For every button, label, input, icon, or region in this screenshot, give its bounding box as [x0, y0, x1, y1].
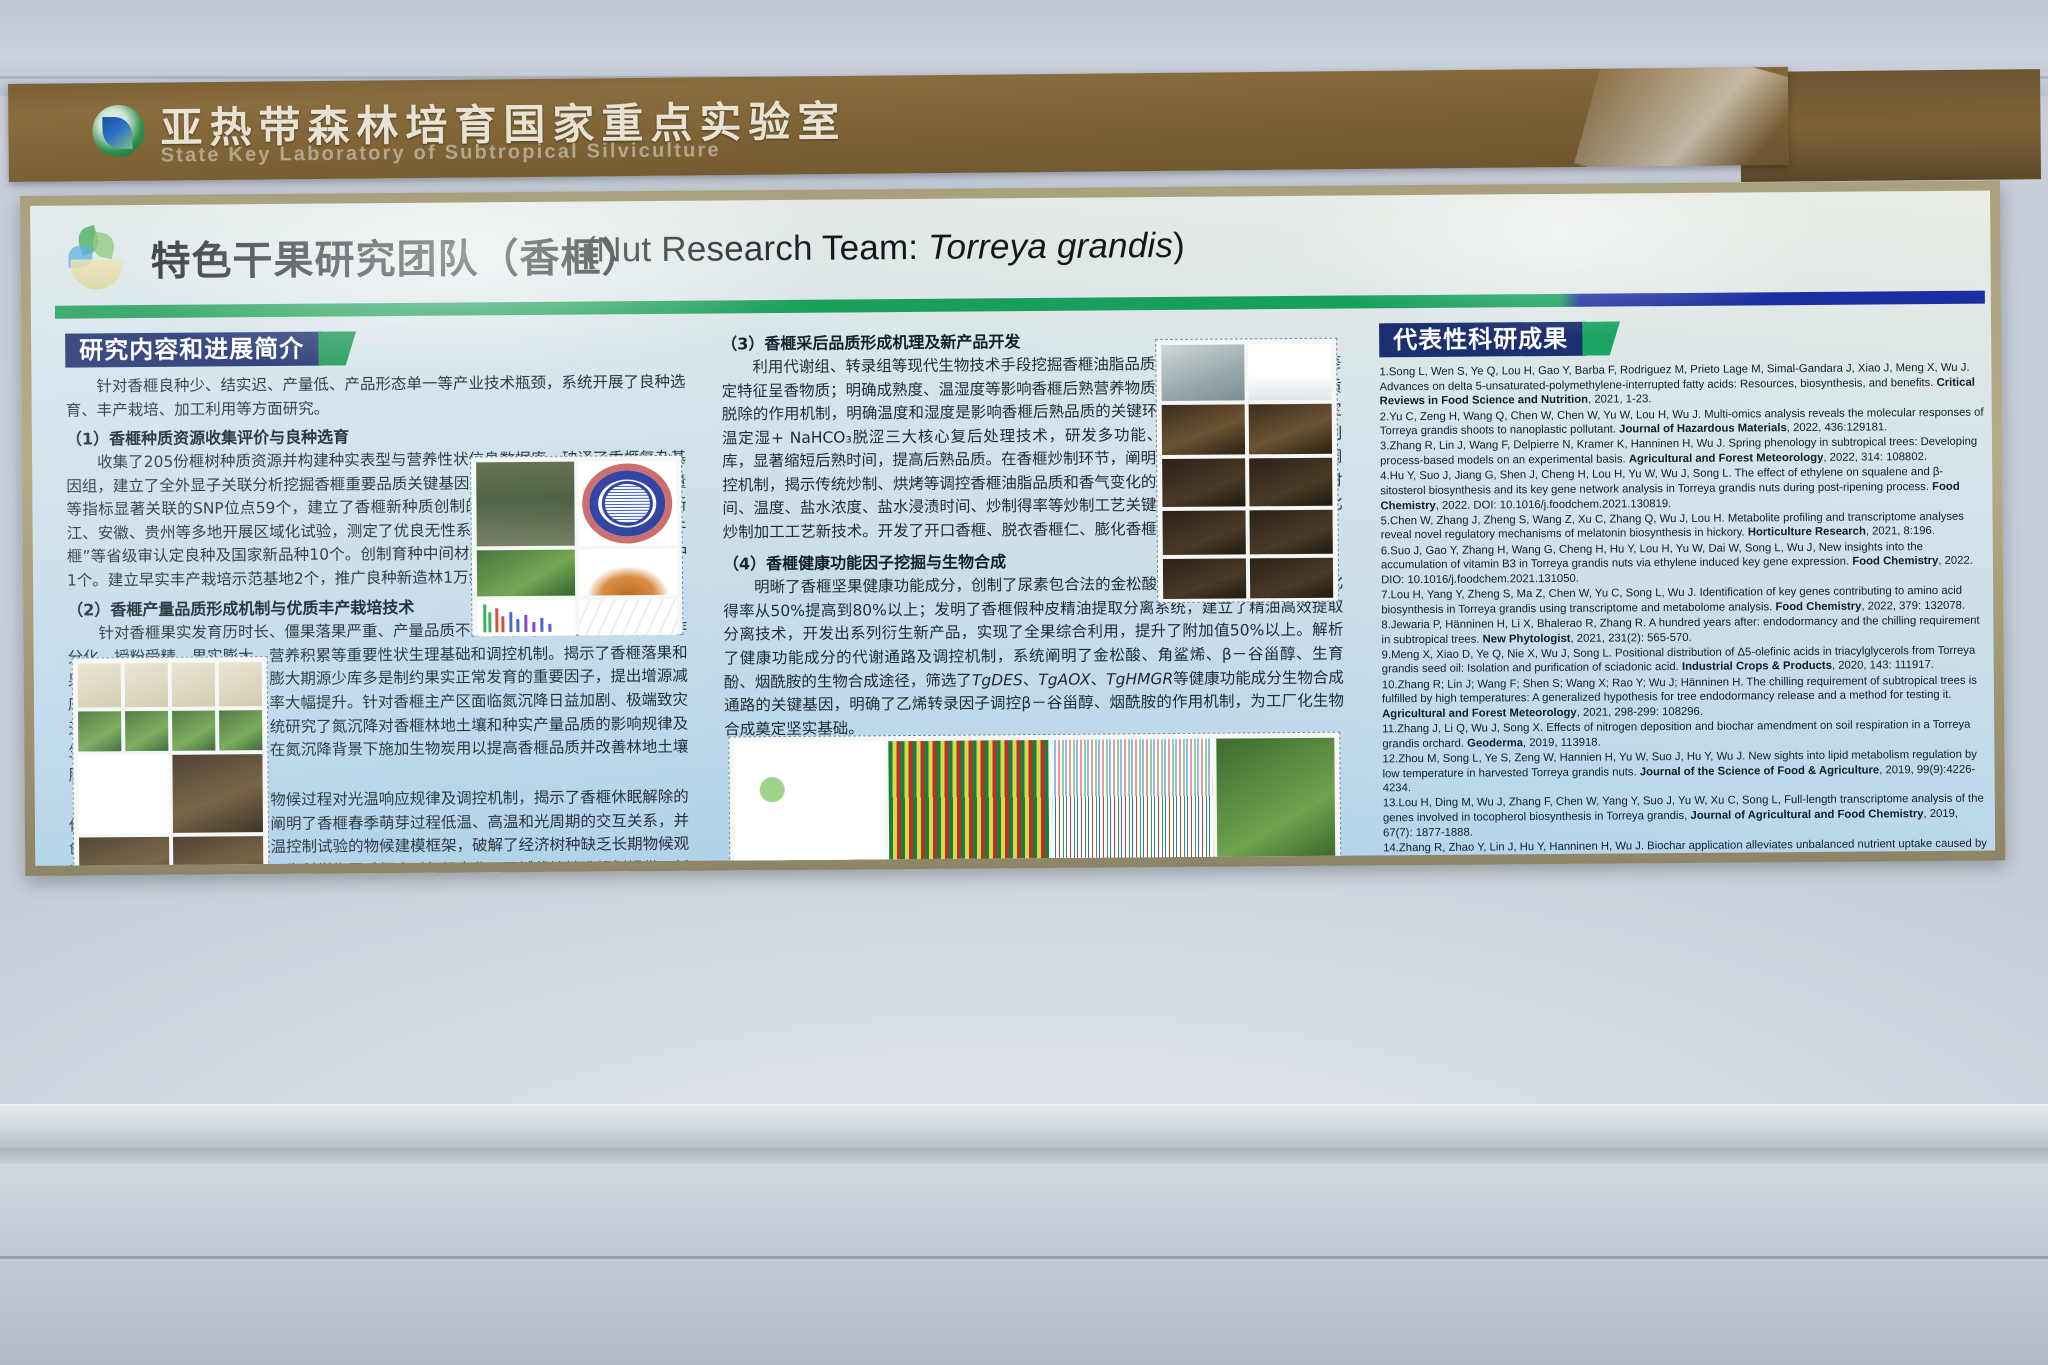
- figure-fruit-d: [219, 710, 262, 750]
- reference-citation: , 2021, 8:196.: [1866, 525, 1935, 538]
- figure-fruit-a: [78, 711, 121, 751]
- reference-journal: Agricultural and Forest Meteorology: [1382, 707, 1577, 721]
- reference-journal: Journal of Agricultural and Food Chemist…: [1690, 808, 1923, 822]
- section-1-label: 香榧种质资源收集评价与良种选育: [109, 428, 349, 449]
- lab-title-en: State Key Laboratory of Subtropical Silv…: [161, 139, 721, 167]
- reference-journal: Food Chemistry: [1775, 600, 1861, 613]
- figure-pathway-diagram: [734, 741, 885, 866]
- reference-item: 1.Song L, Wen S, Ye Q, Lou H, Gao Y, Bar…: [1379, 361, 1985, 410]
- reference-item: 4.Hu Y, Suo J, Jiang G, Shen J, Cheng H,…: [1380, 465, 1986, 514]
- left-column-heading: 研究内容和进展简介: [65, 332, 322, 368]
- gene-tghmgr: TgHMGR: [1106, 670, 1173, 689]
- figure-canopy-photo: [172, 754, 263, 833]
- reference-number: 13.: [1383, 798, 1399, 810]
- figure-tree-schematic: [78, 755, 169, 834]
- reference-item: 10.Zhang R; Lin J; Wang F; Shen S; Wang …: [1382, 673, 1988, 722]
- leaf-globe-logo-icon: [92, 105, 144, 157]
- reference-journal: Industrial Crops & Products: [1682, 660, 1832, 673]
- section-3-number: （3）: [721, 334, 764, 353]
- reference-citation: , 2021, 298-299: 108296.: [1577, 706, 1703, 719]
- reference-citation: , 2021, 231(2): 565-570.: [1570, 631, 1691, 644]
- reference-citation: , 2022, 436:129181.: [1787, 422, 1888, 435]
- reference-text: Hu Y, Suo J, Jiang G, Shen J, Cheng H, L…: [1380, 466, 1943, 497]
- poster-title-species: Torreya grandis: [928, 226, 1173, 267]
- section-4-label: 香榧健康功能因子挖掘与生物合成: [766, 553, 1006, 574]
- poster-title-en-prefix: (Nut Research Team:: [584, 228, 928, 270]
- figure-snp-histogram: [477, 600, 575, 637]
- board-glare: [1574, 67, 1789, 182]
- reference-item: 2.Yu C, Zeng H, Wang Q, Chen W, Chen W, …: [1380, 405, 1986, 439]
- reference-citation: , 2021, 1-23.: [1588, 394, 1652, 406]
- reference-item: 8.Jewaria P, Hänninen H, Li X, Bhalerao …: [1381, 613, 1987, 647]
- figure-product-tray-a: [1163, 510, 1246, 555]
- figure-kernel-sample-b: [1249, 458, 1332, 507]
- figure-germplasm: [470, 455, 683, 637]
- reference-citation: , 2022, 379: 132078.: [1861, 599, 1965, 612]
- reference-journal: Journal of the Science of Food & Agricul…: [1640, 764, 1879, 778]
- figure-kernel-sample-a: [1162, 458, 1245, 507]
- reference-number: 10.: [1382, 679, 1398, 691]
- figure-product-tray-b: [1250, 510, 1333, 555]
- figure-nuts-roasting: [1249, 404, 1332, 455]
- reference-item: 5.Chen W, Zhang J, Zheng S, Wang Z, Xu C…: [1381, 509, 1987, 543]
- section-1-title: （1）香榧种质资源收集评价与良种选育: [66, 421, 686, 450]
- reference-journal: Horticulture Research: [1748, 526, 1866, 539]
- reference-item: 11.Zhang J, Li Q, Wu J, Song X. Effects …: [1382, 718, 1988, 752]
- figure-nuts-drying: [1162, 404, 1245, 455]
- section-3-label: 香榧采后品质形成机理及新产品开发: [764, 332, 1020, 353]
- figure-flower-b: [125, 663, 168, 707]
- poster-title-cn: 特色干果研究团队（香榧）: [150, 225, 642, 287]
- figure-distribution-curve: [579, 549, 677, 596]
- reference-citation: , 2022, 314: 108802.: [1823, 451, 1927, 464]
- section-4-number: （4）: [723, 555, 766, 574]
- reference-number: 11.: [1382, 723, 1397, 735]
- poster-title-en-suffix: ): [1173, 226, 1185, 265]
- poster-frame: 特色干果研究团队（香榧） (Nut Research Team: Torreya…: [20, 180, 2005, 876]
- section-2-number: （2）: [67, 601, 110, 620]
- reference-text: Song L, Wen S, Ye Q, Lou H, Gao Y, Barba…: [1379, 362, 1969, 393]
- reference-journal: Food Chemistry: [1852, 555, 1938, 568]
- figure-postharvest: [1155, 338, 1339, 603]
- left-intro-paragraph: 针对香榧良种少、结实迟、产量低、产品形态单一等产业技术瓶颈，系统开展了良种选育、…: [65, 371, 685, 423]
- poster-container: 特色干果研究团队（香榧） (Nut Research Team: Torreya…: [20, 180, 2005, 876]
- poster-surface: 特色干果研究团队（香榧） (Nut Research Team: Torreya…: [30, 191, 1995, 866]
- figure-circos-plot: [578, 461, 677, 546]
- figure-flower-c: [172, 662, 215, 706]
- reference-journal: Geoderma: [1467, 737, 1523, 749]
- figure-product-tray-c: [1163, 558, 1246, 599]
- section-2-label: 香榧产量品质形成机制与优质丰产栽培技术: [110, 598, 414, 619]
- reference-item: 7.Lou H, Yang Y, Zheng S, Ma Z, Chen W, …: [1381, 584, 1987, 618]
- wall-base-seam: [0, 1256, 2048, 1259]
- reference-number: 14.: [1383, 842, 1399, 854]
- right-column: 代表性科研成果 1.Song L, Wen S, Ye Q, Lou H, Ga…: [1379, 319, 1991, 866]
- figure-fruit-b: [125, 711, 168, 751]
- poster-title-row: 特色干果研究团队（香榧） (Nut Research Team: Torreya…: [64, 209, 1971, 302]
- wall-base-panel: [0, 1164, 2048, 1365]
- reference-number: 12.: [1382, 753, 1398, 765]
- reference-item: 12.Zhou M, Song L, Ye S, Zeng W, Hannien…: [1382, 748, 1988, 797]
- section-1-number: （1）: [66, 429, 109, 448]
- reference-item: 3.Zhang R, Lin J, Wang F, Delpierre N, K…: [1380, 435, 1986, 469]
- figure-3d-bar-chart: [1248, 344, 1331, 401]
- figure-flower-a: [78, 663, 121, 707]
- figure-foliage-photo: [477, 550, 575, 597]
- figure-network-diagram: [579, 599, 677, 636]
- middle-column: （3）香榧采后品质形成机理及新产品开发 利用代谢组、转录组等现代生物技术手段挖掘…: [721, 324, 1344, 745]
- lab-header-board: 亚热带森林培育国家重点实验室 State Key Laboratory of S…: [8, 67, 1789, 182]
- reference-journal: Journal of Hazardous Materials: [1619, 422, 1787, 435]
- figure-ripening-chamber: [1161, 344, 1244, 401]
- figure-flower-d: [219, 662, 262, 706]
- figure-fruit-c: [172, 710, 215, 750]
- reference-item: 13.Lou H, Ding M, Wu J, Zhang F, Chen W,…: [1383, 792, 1989, 841]
- figure-nut-grid-a: [79, 837, 169, 866]
- figure-nut-grid-b: [173, 836, 263, 866]
- figure-product-tray-d: [1250, 558, 1333, 599]
- reference-list: 1.Song L, Wen S, Ye Q, Lou H, Gao Y, Bar…: [1379, 361, 1989, 866]
- figure-tree-photo: [476, 462, 575, 547]
- reference-citation: , 2020, 143: 111917.: [1832, 659, 1934, 672]
- reference-item: 6.Suo J, Gao Y, Zhang H, Wang G, Cheng H…: [1381, 539, 1987, 588]
- reference-item: 9.Meng X, Xiao D, Ye Q, Nie X, Wu J, Son…: [1382, 643, 1988, 677]
- reference-text: Suo J, Gao Y, Zhang H, Wang G, Cheng H, …: [1381, 541, 1923, 572]
- reference-citation: , 2019, 113918.: [1523, 736, 1601, 749]
- figure-cultivation: [72, 656, 270, 866]
- gene-tgaox: TgAOX: [1038, 670, 1090, 688]
- figure-extraction-photos: [1216, 738, 1335, 866]
- gene-tgdes: TgDES: [972, 671, 1023, 689]
- wall-ledge-shadow: [0, 1148, 2048, 1164]
- plant-basket-emblem-icon: [64, 225, 131, 296]
- figure-heatmap: [888, 740, 1049, 866]
- poster-title-en: (Nut Research Team: Torreya grandis): [584, 226, 1185, 271]
- reference-text: Zhang R; Lin J; Wang F; Shen S; Wang X; …: [1382, 674, 1977, 705]
- reference-journal: New Phytologist: [1483, 632, 1571, 645]
- right-column-heading: 代表性科研成果: [1379, 322, 1586, 358]
- left-column: 研究内容和进展简介 针对香榧良种少、结实迟、产量低、产品形态单一等产业技术瓶颈，…: [65, 329, 690, 866]
- wall-ledge: [0, 1104, 2048, 1148]
- figure-scatter-matrix: [1052, 739, 1213, 866]
- figure-health-factors: [728, 732, 1341, 866]
- reference-journal: Agricultural and Forest Meteorology: [1629, 452, 1824, 466]
- reference-citation: , 2022. DOI: 10.1016/j.foodchem.2021.130…: [1436, 498, 1672, 512]
